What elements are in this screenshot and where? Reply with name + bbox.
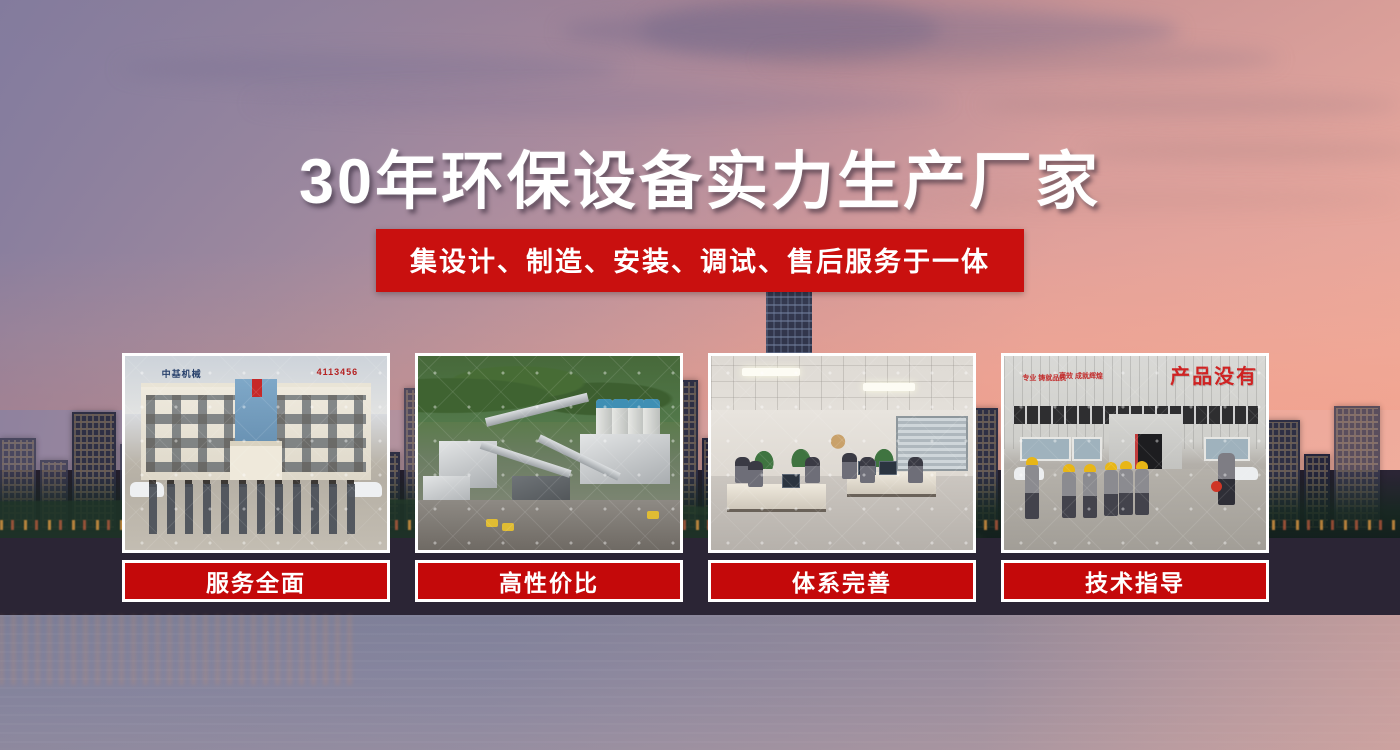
photo-scene	[711, 356, 973, 550]
card-photo-factory-workers[interactable]: 产品没有 专业 铸就品质 高效 成就辉煌	[1001, 353, 1269, 553]
desk	[727, 484, 827, 512]
worker	[1119, 469, 1133, 515]
banner-stage: 30年环保设备实力生产厂家 集设计、制造、安装、调试、售后服务于一体	[0, 0, 1400, 750]
office-worker	[842, 453, 857, 479]
worker	[1135, 469, 1149, 515]
factory-slogan-big: 产品没有	[1170, 360, 1258, 389]
feature-card-list: 中基机械 4113456 服务全面	[122, 353, 1278, 603]
excavator	[502, 523, 514, 531]
subtitle-banner: 集设计、制造、安装、调试、售后服务于一体	[376, 229, 1024, 292]
card-caption: 高性价比	[415, 560, 683, 602]
monitor	[879, 461, 897, 475]
plant-shed	[580, 434, 669, 484]
cloud-band	[760, 44, 1280, 74]
feature-card[interactable]: 产品没有 专业 铸就品质 高效 成就辉煌	[1001, 353, 1269, 603]
ceiling-light	[863, 383, 915, 391]
card-caption: 体系完善	[708, 560, 976, 602]
building-sign-text: 中基机械	[162, 367, 202, 380]
factory-window	[1072, 437, 1102, 460]
water-light-reflection	[0, 615, 360, 685]
cloud-band	[980, 92, 1400, 118]
card-caption: 技术指导	[1001, 560, 1269, 602]
office-worker	[748, 461, 763, 487]
worker	[1025, 465, 1039, 519]
excavator	[647, 511, 659, 519]
page-title: 30年环保设备实力生产厂家	[0, 131, 1400, 222]
wall-decal	[821, 426, 855, 452]
card-photo-industrial-plant[interactable]	[415, 353, 683, 553]
staff-row	[149, 484, 364, 534]
card-photo-company-building[interactable]: 中基机械 4113456	[122, 353, 390, 553]
photo-scene	[418, 356, 680, 550]
water-warm-glow	[980, 615, 1400, 750]
office-worker	[860, 457, 875, 483]
river-water	[0, 615, 1400, 750]
worker	[1062, 472, 1076, 518]
feature-card[interactable]: 高性价比	[415, 353, 683, 603]
feature-card[interactable]: 中基机械 4113456 服务全面	[122, 353, 390, 603]
entrance-porch	[230, 441, 282, 481]
office-worker	[805, 457, 820, 483]
worker	[1104, 470, 1118, 516]
plant-yard	[418, 500, 680, 550]
card-photo-office-interior[interactable]	[708, 353, 976, 553]
photo-scene: 产品没有 专业 铸就品质 高效 成就辉煌	[1004, 356, 1266, 550]
worker	[1083, 472, 1097, 518]
excavator	[486, 519, 498, 527]
cloud-band	[250, 88, 950, 118]
flag	[252, 379, 262, 397]
feature-card[interactable]: 体系完善	[708, 353, 976, 603]
ceiling	[711, 356, 973, 414]
photo-scene: 中基机械 4113456	[125, 356, 387, 550]
card-caption: 服务全面	[122, 560, 390, 602]
cloud-band	[120, 52, 620, 86]
factory-slogan-right: 高效 成就辉煌	[1059, 373, 1103, 382]
ceiling-light	[742, 368, 800, 376]
building-phone-text: 4113456	[317, 367, 359, 377]
supervisor	[1218, 453, 1235, 505]
window-blinds	[896, 416, 968, 470]
monitor	[782, 474, 800, 488]
office-worker	[908, 457, 923, 483]
